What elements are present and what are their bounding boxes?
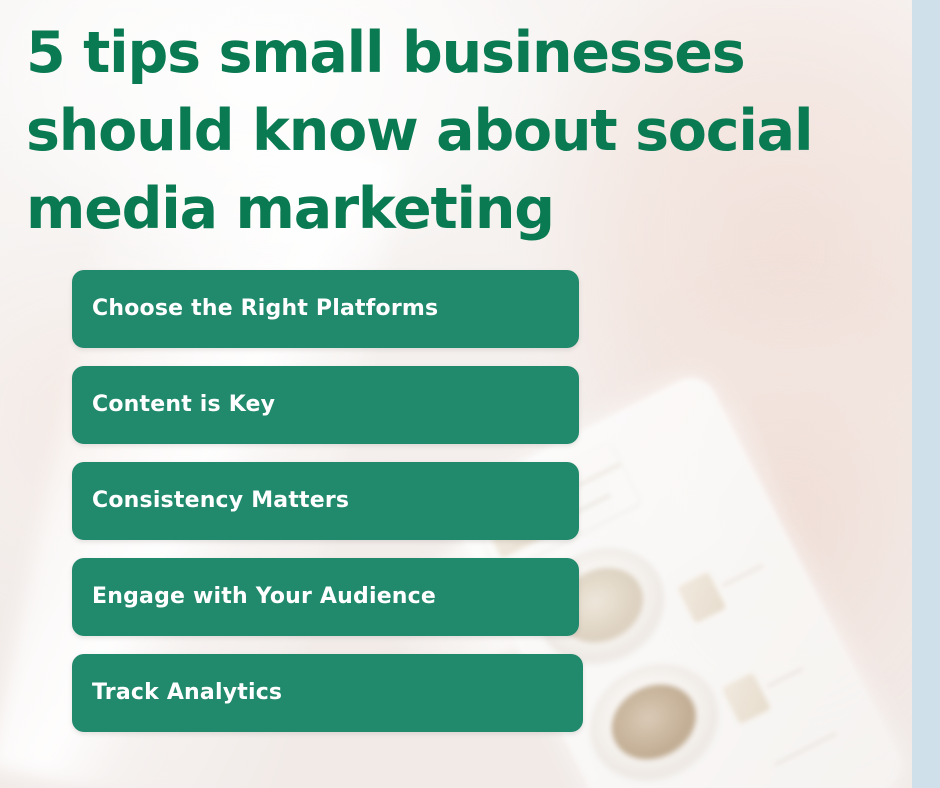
tip-item-content-is-key[interactable]: Content is Key — [72, 366, 579, 444]
poster-canvas: 5 tips small businesses should know abou… — [0, 0, 940, 788]
tip-item-choose-the-right-platforms[interactable]: Choose the Right Platforms — [72, 270, 579, 348]
tip-item-track-analytics[interactable]: Track Analytics — [72, 654, 583, 732]
page-title: 5 tips small businesses should know abou… — [26, 14, 726, 248]
tip-item-consistency-matters[interactable]: Consistency Matters — [72, 462, 579, 540]
tip-label: Track Analytics — [92, 682, 282, 704]
tips-list: Choose the Right Platforms Content is Ke… — [72, 270, 940, 732]
poster-content: 5 tips small businesses should know abou… — [0, 0, 940, 788]
page-title-line-1: 5 tips small businesses — [26, 14, 726, 92]
tip-label: Consistency Matters — [92, 490, 349, 512]
page-title-line-3: media marketing — [26, 170, 726, 248]
tip-label: Choose the Right Platforms — [92, 298, 438, 320]
page-title-line-2: should know about social — [26, 92, 726, 170]
tip-label: Content is Key — [92, 394, 275, 416]
tip-item-engage-with-your-audience[interactable]: Engage with Your Audience — [72, 558, 579, 636]
tip-label: Engage with Your Audience — [92, 586, 436, 608]
